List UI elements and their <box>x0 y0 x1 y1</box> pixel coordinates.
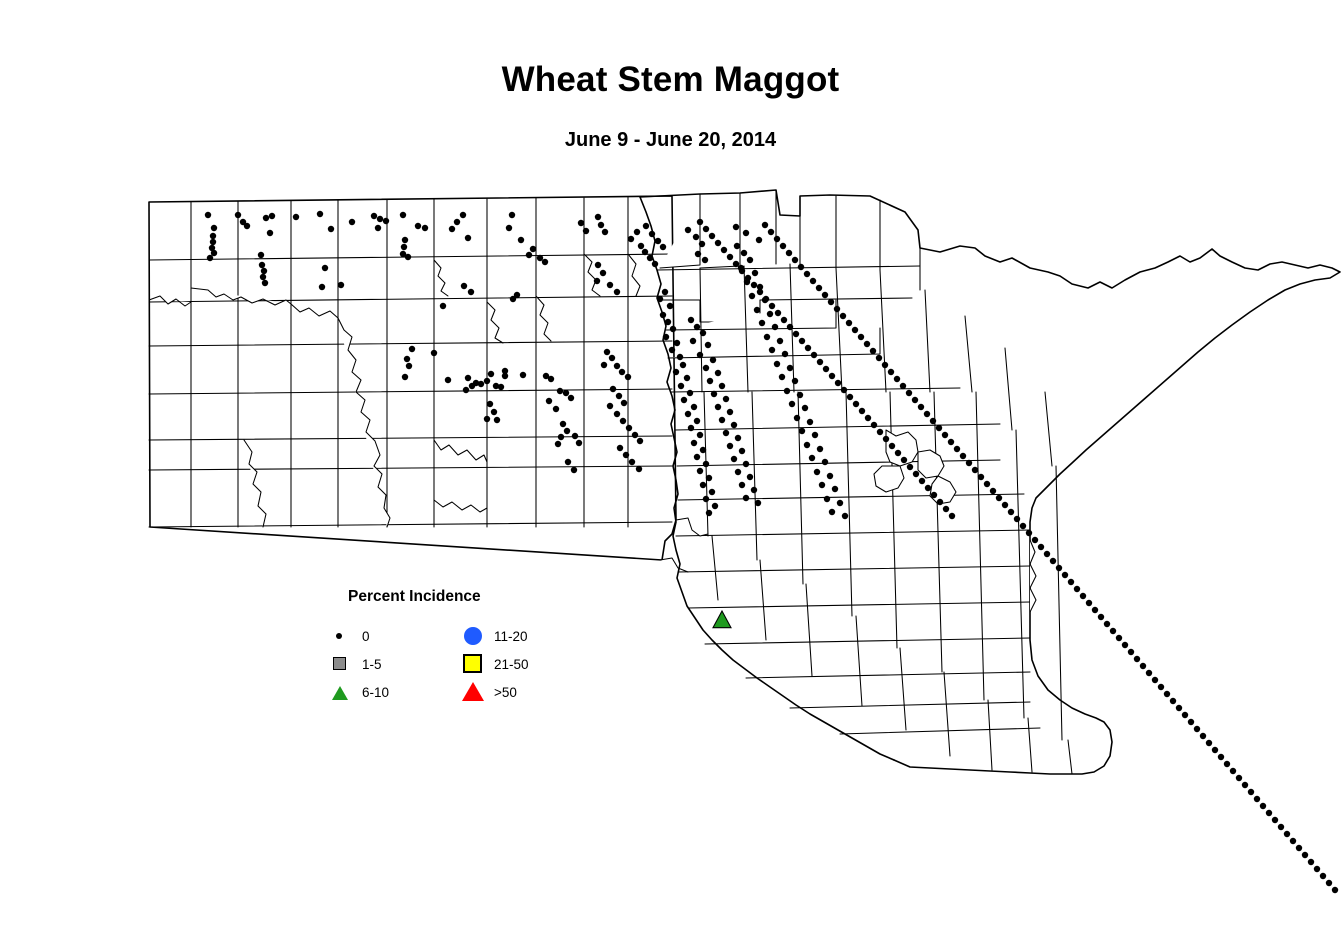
sample-point <box>931 492 937 498</box>
sample-point <box>210 239 216 245</box>
sample-point <box>610 386 616 392</box>
sample-point <box>816 285 822 291</box>
sample-point <box>697 219 703 225</box>
sample-point <box>715 370 721 376</box>
sample-point <box>670 326 676 332</box>
sample-point <box>888 369 894 375</box>
sample-point <box>263 215 269 221</box>
sample-point <box>1110 628 1116 634</box>
sample-point <box>781 317 787 323</box>
sample-point <box>700 330 706 336</box>
green-triangle-icon <box>330 681 356 703</box>
sample-point <box>823 366 829 372</box>
sample-point <box>405 254 411 260</box>
sample-point <box>727 409 733 415</box>
sample-point <box>709 233 715 239</box>
sample-point <box>484 378 490 384</box>
sample-point <box>699 241 705 247</box>
sample-point <box>804 271 810 277</box>
sample-point <box>669 347 675 353</box>
sample-point <box>1308 859 1314 865</box>
sample-point <box>267 230 273 236</box>
sample-point <box>261 268 267 274</box>
sample-point <box>1134 656 1140 662</box>
sample-point <box>853 401 859 407</box>
sample-point <box>1266 810 1272 816</box>
sample-point <box>564 428 570 434</box>
legend-title: Percent Incidence <box>348 588 481 606</box>
sample-point <box>1284 831 1290 837</box>
legend-item-6-10[interactable]: 6-10 <box>330 681 389 703</box>
sample-point <box>793 331 799 337</box>
sample-point <box>244 223 250 229</box>
sample-point <box>468 289 474 295</box>
sample-point <box>205 212 211 218</box>
sample-point <box>678 383 684 389</box>
sample-point <box>494 417 500 423</box>
sample-point <box>319 284 325 290</box>
sample-point <box>948 439 954 445</box>
sample-point <box>1272 817 1278 823</box>
sample-point <box>706 475 712 481</box>
sample-point <box>211 250 217 256</box>
sample-point <box>949 513 955 519</box>
sample-point <box>1044 551 1050 557</box>
sample-point <box>260 274 266 280</box>
sample-point <box>371 213 377 219</box>
sample-point <box>555 441 561 447</box>
sample-point <box>628 236 634 242</box>
sample-point <box>1092 607 1098 613</box>
sample-point <box>877 429 883 435</box>
sample-point <box>465 235 471 241</box>
sample-point <box>787 324 793 330</box>
sample-point <box>774 236 780 242</box>
sample-point <box>762 222 768 228</box>
sample-point <box>811 352 817 358</box>
sample-point <box>798 264 804 270</box>
sample-point <box>777 338 783 344</box>
sample-point <box>609 355 615 361</box>
sample-point <box>697 352 703 358</box>
sample-point <box>864 341 870 347</box>
sample-point <box>807 419 813 425</box>
sample-point <box>733 224 739 230</box>
legend-item-1-5[interactable]: 1-5 <box>330 653 382 675</box>
sample-point <box>780 243 786 249</box>
sample-point <box>484 416 490 422</box>
sample-point <box>317 211 323 217</box>
sample-point <box>695 251 701 257</box>
sample-point <box>924 411 930 417</box>
sample-point <box>1314 866 1320 872</box>
sample-point <box>595 262 601 268</box>
sample-point <box>607 403 613 409</box>
sample-point <box>709 489 715 495</box>
sample-point <box>799 338 805 344</box>
sample-point <box>553 406 559 412</box>
sample-point <box>769 347 775 353</box>
sample-point <box>782 351 788 357</box>
sample-point <box>834 306 840 312</box>
sample-point <box>1182 712 1188 718</box>
sample-point <box>697 432 703 438</box>
sample-point <box>913 471 919 477</box>
sample-point <box>601 362 607 368</box>
sample-point <box>1146 670 1152 676</box>
sample-point <box>694 324 700 330</box>
sample-point <box>568 395 574 401</box>
sample-point <box>745 275 751 281</box>
sample-point <box>1140 663 1146 669</box>
sample-point <box>799 428 805 434</box>
sample-point <box>810 278 816 284</box>
sample-point <box>449 226 455 232</box>
sample-point <box>677 354 683 360</box>
sample-point <box>557 388 563 394</box>
sample-point <box>936 425 942 431</box>
sample-point <box>804 442 810 448</box>
sample-point <box>1158 684 1164 690</box>
sample-point <box>269 213 275 219</box>
sample-point <box>842 513 848 519</box>
sample-point <box>688 425 694 431</box>
sample-point <box>1128 649 1134 655</box>
sample-point <box>1098 614 1104 620</box>
sample-point <box>1302 852 1308 858</box>
sample-point <box>747 257 753 263</box>
sample-point <box>530 246 536 252</box>
sample-point <box>727 254 733 260</box>
legend-item-11-20[interactable]: 11-20 <box>462 625 528 647</box>
sample-point <box>792 257 798 263</box>
sample-point <box>694 418 700 424</box>
sample-point <box>768 229 774 235</box>
sample-point <box>565 459 571 465</box>
sample-point <box>894 376 900 382</box>
sample-point <box>461 283 467 289</box>
sample-point <box>383 218 389 224</box>
sample-point <box>734 243 740 249</box>
sample-point <box>870 348 876 354</box>
sample-point <box>404 356 410 362</box>
north-dakota-counties <box>149 196 676 560</box>
sample-point <box>259 262 265 268</box>
legend-item-gt50[interactable]: >50 <box>462 681 517 703</box>
sample-point <box>966 460 972 466</box>
sample-point <box>805 345 811 351</box>
sample-point <box>703 226 709 232</box>
sample-point <box>752 270 758 276</box>
sample-point <box>723 396 729 402</box>
sample-point <box>614 411 620 417</box>
sample-point <box>900 383 906 389</box>
sample-point <box>598 222 604 228</box>
sample-point <box>693 234 699 240</box>
sample-point <box>852 327 858 333</box>
sample-point <box>764 334 770 340</box>
sample-point <box>402 237 408 243</box>
sample-point <box>1170 698 1176 704</box>
sample-point <box>719 383 725 389</box>
sample-point <box>632 432 638 438</box>
sample-point <box>700 482 706 488</box>
sample-point <box>775 310 781 316</box>
sample-point <box>1002 502 1008 508</box>
sample-point <box>578 220 584 226</box>
sample-point <box>571 467 577 473</box>
sample-point <box>960 453 966 459</box>
sample-point <box>655 238 661 244</box>
sample-point <box>735 435 741 441</box>
sample-point <box>400 212 406 218</box>
sample-point <box>757 289 763 295</box>
map-svg <box>0 0 1341 926</box>
sample-point <box>440 303 446 309</box>
sample-point <box>706 510 712 516</box>
small-black-dot-icon <box>330 625 356 647</box>
sample-point <box>673 369 679 375</box>
sample-point <box>1218 754 1224 760</box>
red-triangle-icon <box>462 681 488 703</box>
sample-point <box>822 459 828 465</box>
sample-point <box>741 250 747 256</box>
sample-point <box>731 456 737 462</box>
sample-point <box>759 320 765 326</box>
sample-point <box>847 394 853 400</box>
sample-point <box>258 252 264 258</box>
sample-point <box>690 338 696 344</box>
sample-point <box>349 219 355 225</box>
sample-point <box>431 350 437 356</box>
sample-point <box>687 390 693 396</box>
sample-point <box>703 365 709 371</box>
sample-point <box>787 365 793 371</box>
sample-point <box>943 506 949 512</box>
sample-point <box>488 371 494 377</box>
sample-point <box>594 278 600 284</box>
sample-point <box>767 311 773 317</box>
sample-point <box>784 388 790 394</box>
sample-point <box>822 292 828 298</box>
sample-point <box>713 611 731 628</box>
sample-point-layer <box>205 211 1338 893</box>
sample-point <box>1236 775 1242 781</box>
sample-point <box>665 319 671 325</box>
sample-point <box>548 376 554 382</box>
legend-item-label: 11-20 <box>494 629 528 644</box>
sample-point <box>663 334 669 340</box>
sample-point <box>636 466 642 472</box>
sample-point <box>829 509 835 515</box>
sample-point <box>491 409 497 415</box>
sample-point <box>662 289 668 295</box>
legend-item-21-50[interactable]: 21-50 <box>462 653 529 675</box>
sample-point <box>518 237 524 243</box>
sample-point <box>1320 873 1326 879</box>
sample-point <box>697 468 703 474</box>
sample-point <box>789 401 795 407</box>
sample-point <box>895 450 901 456</box>
sample-point <box>623 452 629 458</box>
sample-point <box>1194 726 1200 732</box>
sample-point <box>1080 593 1086 599</box>
minnesota-counties <box>657 190 1072 774</box>
sample-point <box>1254 796 1260 802</box>
sample-point <box>819 482 825 488</box>
sample-point <box>1074 586 1080 592</box>
sample-point <box>402 374 408 380</box>
sample-point <box>743 461 749 467</box>
sample-point <box>684 375 690 381</box>
sample-point <box>642 249 648 255</box>
sample-point <box>638 243 644 249</box>
sample-point <box>954 446 960 452</box>
sample-point <box>1224 761 1230 767</box>
sample-point <box>772 324 778 330</box>
sample-point <box>634 229 640 235</box>
sample-point <box>667 303 673 309</box>
sample-point <box>876 355 882 361</box>
legend-item-0[interactable]: 0 <box>330 625 370 647</box>
sample-point <box>1056 565 1062 571</box>
sample-point <box>1116 635 1122 641</box>
sample-point <box>616 393 622 399</box>
sample-point <box>754 307 760 313</box>
sample-point <box>814 469 820 475</box>
sample-point <box>377 216 383 222</box>
sample-point <box>809 455 815 461</box>
sample-point <box>600 270 606 276</box>
sample-point <box>859 408 865 414</box>
sample-point <box>817 359 823 365</box>
sample-point <box>526 252 532 258</box>
sample-point <box>572 433 578 439</box>
sample-point <box>422 225 428 231</box>
sample-point <box>1212 747 1218 753</box>
sample-point <box>1326 880 1332 886</box>
sample-point <box>907 464 913 470</box>
sample-point <box>657 296 663 302</box>
sample-point <box>841 387 847 393</box>
sample-point <box>465 375 471 381</box>
sample-point <box>210 233 216 239</box>
sample-point <box>882 362 888 368</box>
sample-point <box>614 289 620 295</box>
sample-point <box>293 214 299 220</box>
sample-point <box>739 482 745 488</box>
sample-point <box>1248 789 1254 795</box>
sample-point <box>824 496 830 502</box>
sample-point <box>625 374 631 380</box>
sample-point <box>858 334 864 340</box>
sample-point <box>406 363 412 369</box>
sample-point <box>643 223 649 229</box>
sample-point <box>1332 887 1338 893</box>
sample-point <box>990 488 996 494</box>
sample-point <box>711 391 717 397</box>
sample-point <box>1014 516 1020 522</box>
sample-point <box>901 457 907 463</box>
sample-point <box>685 227 691 233</box>
sample-point <box>751 487 757 493</box>
sample-point <box>1152 677 1158 683</box>
sample-point <box>1020 523 1026 529</box>
sample-point <box>207 255 213 261</box>
sample-point <box>563 390 569 396</box>
sample-point <box>705 342 711 348</box>
sample-point <box>1200 733 1206 739</box>
sample-point <box>510 296 516 302</box>
sample-point <box>235 212 241 218</box>
sample-point <box>996 495 1002 501</box>
sample-point <box>972 467 978 473</box>
sample-point <box>546 398 552 404</box>
sample-point <box>889 443 895 449</box>
sample-point <box>620 418 626 424</box>
sample-point <box>828 299 834 305</box>
sample-point <box>840 313 846 319</box>
gray-square-icon <box>330 653 356 675</box>
sample-point <box>509 212 515 218</box>
sample-point <box>802 405 808 411</box>
sample-point <box>930 418 936 424</box>
sample-point <box>792 378 798 384</box>
sample-point <box>560 421 566 427</box>
sample-point <box>702 257 708 263</box>
sample-point <box>1026 530 1032 536</box>
sample-point <box>680 362 686 368</box>
sample-point <box>1038 544 1044 550</box>
sample-point <box>660 244 666 250</box>
sample-point <box>487 401 493 407</box>
sample-point <box>498 384 504 390</box>
sample-point <box>460 212 466 218</box>
sample-point <box>1176 705 1182 711</box>
sample-point <box>681 397 687 403</box>
sample-point <box>463 387 469 393</box>
sample-point <box>883 436 889 442</box>
sample-point <box>629 459 635 465</box>
sample-point <box>595 214 601 220</box>
sample-point <box>1296 845 1302 851</box>
sample-point <box>694 454 700 460</box>
sample-point <box>1188 719 1194 725</box>
sample-point <box>797 392 803 398</box>
sample-point <box>763 296 769 302</box>
sample-point <box>1230 768 1236 774</box>
sample-point <box>1164 691 1170 697</box>
sample-point <box>1278 824 1284 830</box>
sample-point <box>846 320 852 326</box>
sample-point <box>1062 572 1068 578</box>
sample-point <box>735 469 741 475</box>
sample-point <box>621 400 627 406</box>
sample-point <box>445 377 451 383</box>
sample-point <box>769 303 775 309</box>
sample-point <box>942 432 948 438</box>
map-figure <box>0 0 1341 926</box>
sample-point <box>647 255 653 261</box>
sample-point <box>328 226 334 232</box>
sample-point <box>749 293 755 299</box>
sample-point <box>576 440 582 446</box>
sample-point <box>756 237 762 243</box>
sample-point <box>1086 600 1092 606</box>
sample-point <box>937 499 943 505</box>
sample-point <box>715 240 721 246</box>
sample-point <box>832 486 838 492</box>
